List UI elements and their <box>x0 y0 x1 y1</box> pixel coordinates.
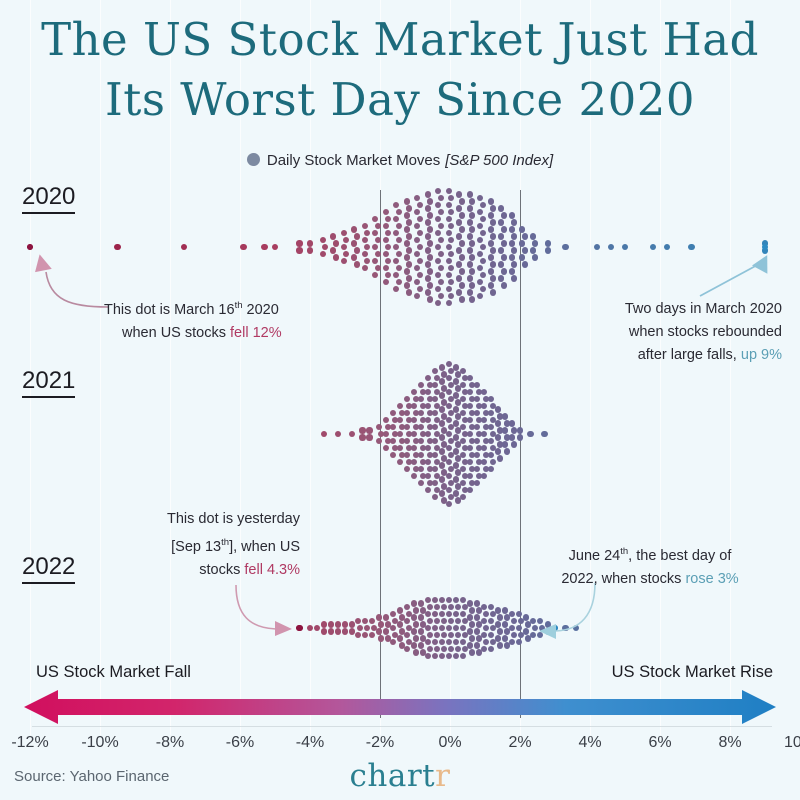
swarm-dot <box>434 487 440 493</box>
swarm-dot <box>537 618 543 624</box>
swarm-dot <box>390 625 396 631</box>
swarm-dot <box>502 427 508 433</box>
swarm-dot <box>439 448 445 454</box>
swarm-dot <box>488 410 494 416</box>
swarm-dot <box>504 448 510 454</box>
swarm-dot <box>467 403 473 409</box>
swarm-dot <box>495 607 501 613</box>
swarm-dot <box>509 420 515 426</box>
swarm-dot <box>362 223 368 229</box>
swarm-dot <box>477 195 483 201</box>
swarm-dot <box>417 202 423 208</box>
swarm-dot <box>441 441 447 447</box>
annotation-sep13-line2-post: ], when US <box>229 539 300 555</box>
swarm-dot <box>420 445 426 451</box>
swarm-dot <box>417 272 423 278</box>
swarm-dot <box>427 254 433 260</box>
swarm-dot <box>425 597 431 603</box>
swarm-dot <box>418 438 424 444</box>
swarm-dot <box>427 618 433 624</box>
swarm-dot <box>459 198 465 204</box>
swarm-dot <box>432 653 438 659</box>
swarm-dot <box>469 466 475 472</box>
swarm-dot <box>417 286 423 292</box>
swarm-dot <box>467 600 473 606</box>
swarm-dot <box>432 466 438 472</box>
swarm-dot <box>532 240 538 246</box>
swarm-dot <box>390 438 396 444</box>
swarm-dot <box>439 653 445 659</box>
swarm-dot <box>343 237 349 243</box>
swarm-dot <box>467 431 473 437</box>
swarm-dot <box>418 642 424 648</box>
swarm-dot <box>383 251 389 257</box>
swarm-dot <box>383 209 389 215</box>
swarm-dot <box>441 497 447 503</box>
swarm-dot <box>441 455 447 461</box>
swarm-dot <box>390 424 396 430</box>
swarm-dot <box>427 438 433 444</box>
swarm-dot <box>349 431 355 437</box>
tick-label-neg2pct: -2% <box>366 734 394 752</box>
annotation-sep13-emphasis: fell 4.3% <box>244 562 300 578</box>
swarm-dot <box>385 424 391 430</box>
swarm-dot <box>490 445 496 451</box>
swarm-dot <box>349 628 355 634</box>
swarm-dot <box>474 480 480 486</box>
swarm-dot <box>462 618 468 624</box>
swarm-dot <box>467 642 473 648</box>
swarm-dot <box>481 417 487 423</box>
swarm-dot <box>320 251 326 257</box>
arrow-head-june24 <box>539 624 556 639</box>
swarm-dot <box>364 230 370 236</box>
axis-fall-label: US Stock Market Fall <box>36 663 191 682</box>
swarm-dot <box>383 614 389 620</box>
logo-text-main: chart <box>350 758 436 794</box>
swarm-dot <box>366 427 372 433</box>
swarm-dot <box>481 459 487 465</box>
swarm-dot <box>504 420 510 426</box>
gradient-direction-arrow <box>24 689 776 725</box>
annotation-twodays-line3: after large falls, up 9% <box>592 344 782 367</box>
swarm-dot <box>397 459 403 465</box>
swarm-dot <box>467 375 473 381</box>
swarm-dot <box>455 483 461 489</box>
swarm-dot <box>650 244 656 250</box>
swarm-dot <box>467 233 473 239</box>
swarm-dot <box>453 625 459 631</box>
swarm-dot <box>481 473 487 479</box>
swarm-dot <box>413 424 419 430</box>
swarm-dot <box>414 265 420 271</box>
swarm-dot <box>420 417 426 423</box>
swarm-dot <box>476 459 482 465</box>
swarm-dot <box>509 611 515 617</box>
tick-label-neg10pct: -10% <box>81 734 118 752</box>
swarm-dot <box>406 261 412 267</box>
swarm-dot <box>488 438 494 444</box>
swarm-dot <box>490 247 496 253</box>
swarm-dot <box>502 635 508 641</box>
swarm-dot <box>455 385 461 391</box>
swarm-dot <box>469 396 475 402</box>
swarm-dot <box>497 413 503 419</box>
swarm-dot <box>441 399 447 405</box>
swarm-dot <box>462 604 468 610</box>
swarm-dot <box>490 611 496 617</box>
swarm-dot <box>530 632 536 638</box>
swarm-dot <box>456 247 462 253</box>
swarm-dot <box>488 618 494 624</box>
swarm-dot <box>427 480 433 486</box>
swarm-dot <box>425 431 431 437</box>
swarm-dot <box>439 420 445 426</box>
swarm-dot <box>467 219 473 225</box>
swarm-dot <box>427 226 433 232</box>
swarm-dot <box>462 431 468 437</box>
swarm-dot <box>432 438 438 444</box>
swarm-dot <box>501 268 507 274</box>
swarm-dot <box>438 237 444 243</box>
swarm-dot <box>425 233 431 239</box>
arrow-head-sep13 <box>275 621 292 636</box>
swarm-dot <box>459 296 465 302</box>
swarm-dot <box>762 247 768 253</box>
swarm-dot <box>504 628 510 634</box>
swarm-dot <box>483 396 489 402</box>
swarm-dot <box>414 251 420 257</box>
swarm-dot <box>351 254 357 260</box>
swarm-dot <box>406 289 412 295</box>
swarm-dot <box>456 289 462 295</box>
annotation-june-24-2022: June 24th, the best day of 2022, when st… <box>540 540 760 591</box>
swarm-dot <box>509 625 515 631</box>
swarm-dot <box>434 445 440 451</box>
swarm-dot <box>501 226 507 232</box>
swarm-dot <box>418 424 424 430</box>
swarm-dot <box>469 480 475 486</box>
swarm-dot <box>460 368 466 374</box>
swarm-dot <box>425 191 431 197</box>
swarm-dot <box>460 597 466 603</box>
swarm-dot <box>511 632 517 638</box>
swarm-dot <box>406 205 412 211</box>
swarm-dot <box>460 653 466 659</box>
swarm-dot <box>406 417 412 423</box>
swarm-dot <box>439 476 445 482</box>
swarm-dot <box>455 497 461 503</box>
swarm-dot <box>420 403 426 409</box>
swarm-dot <box>396 265 402 271</box>
swarm-dot <box>467 261 473 267</box>
swarm-dot <box>411 445 417 451</box>
swarm-dot <box>411 628 417 634</box>
annotation-june24-line2-pre: 2022, when stocks <box>561 571 685 587</box>
swarm-dot <box>435 300 441 306</box>
swarm-dot <box>481 445 487 451</box>
axis-rise-label: US Stock Market Rise <box>612 663 773 682</box>
annotation-sep13-line2: [Sep 13th], when US <box>140 531 300 559</box>
swarm-dot <box>330 233 336 239</box>
swarm-dot <box>364 625 370 631</box>
swarm-dot <box>439 364 445 370</box>
swarm-dot <box>432 480 438 486</box>
swarm-dot <box>460 382 466 388</box>
swarm-dot <box>462 487 468 493</box>
swarm-dot <box>359 434 365 440</box>
swarm-dot <box>397 445 403 451</box>
swarm-dot <box>495 635 501 641</box>
logo-text-accent: r <box>435 758 450 794</box>
swarm-dot <box>456 261 462 267</box>
swarm-dot <box>392 618 398 624</box>
swarm-dot <box>385 258 391 264</box>
arrow-head-twodays <box>751 252 772 274</box>
swarm-dot <box>435 188 441 194</box>
swarm-dot <box>530 618 536 624</box>
swarm-dot <box>469 438 475 444</box>
swarm-dot <box>320 237 326 243</box>
swarm-dot <box>498 205 504 211</box>
swarm-dot <box>427 466 433 472</box>
swarm-dot <box>455 427 461 433</box>
swarm-dot <box>366 434 372 440</box>
swarm-dot <box>490 289 496 295</box>
annotation-sep-13-2022: This dot is yesterday [Sep 13th], when U… <box>140 508 300 582</box>
swarm-dot <box>490 417 496 423</box>
swarm-dot <box>383 417 389 423</box>
swarm-dot <box>413 452 419 458</box>
swarm-dot <box>383 628 389 634</box>
swarm-dot <box>608 244 614 250</box>
swarm-dot <box>474 452 480 458</box>
swarm-dot <box>328 621 334 627</box>
annotation-june24-line1-pre: June 24 <box>569 548 621 564</box>
swarm-dot <box>476 445 482 451</box>
swarm-dot <box>509 226 515 232</box>
swarm-dot <box>488 282 494 288</box>
swarm-dot <box>432 396 438 402</box>
swarm-dot <box>498 247 504 253</box>
tick-label-neg4pct: -4% <box>296 734 324 752</box>
swarm-dot <box>427 632 433 638</box>
swarm-dot <box>522 233 528 239</box>
swarm-dot <box>434 431 440 437</box>
swarm-dot <box>497 628 503 634</box>
swarm-dot <box>459 282 465 288</box>
swarm-dot <box>413 466 419 472</box>
swarm-dot <box>497 427 503 433</box>
swarm-dot <box>392 431 398 437</box>
swarm-dot <box>406 445 412 451</box>
swarm-dot <box>480 202 486 208</box>
annotation-march16-ordinal: th <box>235 300 243 311</box>
swarm-dot <box>432 625 438 631</box>
swarm-dot <box>418 452 424 458</box>
swarm-dot <box>495 420 501 426</box>
swarm-dot <box>404 282 410 288</box>
swarm-dot <box>522 261 528 267</box>
swarm-dot <box>418 410 424 416</box>
swarm-dot <box>427 198 433 204</box>
swarm-dot <box>404 452 410 458</box>
swarm-dot <box>467 191 473 197</box>
chartr-logo: chartr <box>0 758 800 794</box>
swarm-dot <box>460 494 466 500</box>
swarm-dot <box>392 417 398 423</box>
swarm-dot <box>432 452 438 458</box>
annotation-sep13-line3-pre: stocks <box>199 562 244 578</box>
swarm-dot <box>404 424 410 430</box>
swarm-dot <box>411 614 417 620</box>
swarm-dot <box>425 653 431 659</box>
swarm-dot <box>439 462 445 468</box>
swarm-dot <box>469 607 475 613</box>
swarm-dot <box>341 244 347 250</box>
swarm-dot <box>483 424 489 430</box>
swarm-dot <box>432 410 438 416</box>
swarm-dot <box>460 396 466 402</box>
swarm-dot <box>453 364 459 370</box>
swarm-dot <box>477 251 483 257</box>
swarm-dot <box>490 219 496 225</box>
swarm-dot <box>406 233 412 239</box>
swarm-dot <box>404 632 410 638</box>
swarm-dot <box>328 628 334 634</box>
swarm-dot <box>438 223 444 229</box>
swarm-dot <box>488 632 494 638</box>
swarm-dot <box>474 466 480 472</box>
swarm-dot <box>372 258 378 264</box>
annotation-sep13-line2-pre: [Sep 13 <box>171 539 221 555</box>
swarm-dot <box>476 635 482 641</box>
swarm-dot <box>441 618 447 624</box>
swarm-dot <box>390 452 396 458</box>
swarm-dot <box>414 293 420 299</box>
annotation-june24-line2: 2022, when stocks rose 3% <box>540 568 760 591</box>
swarm-dot <box>371 625 377 631</box>
swarm-dot <box>397 431 403 437</box>
legend-label: Daily Stock Market Moves <box>267 152 440 169</box>
swarm-dot <box>351 226 357 232</box>
swarm-dot <box>532 625 538 631</box>
swarm-dot <box>456 191 462 197</box>
swarm-dot <box>425 205 431 211</box>
swarm-dot <box>432 424 438 430</box>
swarm-dot <box>321 431 327 437</box>
swarm-dot <box>397 403 403 409</box>
swarm-dot <box>495 621 501 627</box>
swarm-dot <box>474 424 480 430</box>
swarm-dot <box>532 254 538 260</box>
swarm-dot <box>467 389 473 395</box>
swarm-dot <box>406 219 412 225</box>
swarm-dot <box>573 625 579 631</box>
annotation-june24-emphasis: rose 3% <box>685 571 738 587</box>
annotation-twodays-emphasis: up 9% <box>741 347 782 363</box>
swarm-dot <box>441 413 447 419</box>
swarm-dot <box>488 452 494 458</box>
swarm-dot <box>504 614 510 620</box>
swarm-dot <box>427 410 433 416</box>
swarm-dot <box>467 487 473 493</box>
swarm-dot <box>453 448 459 454</box>
swarm-dot <box>432 368 438 374</box>
swarm-dot <box>453 639 459 645</box>
annotation-march16-line1-post: 2020 <box>243 302 279 318</box>
swarm-dot <box>509 639 515 645</box>
swarm-dot <box>396 279 402 285</box>
swarm-dot <box>417 216 423 222</box>
swarm-dot <box>427 396 433 402</box>
swarm-dot <box>404 438 410 444</box>
swarm-dot <box>420 473 426 479</box>
swarm-dot <box>396 209 402 215</box>
swarm-dot <box>335 621 341 627</box>
swarm-dot <box>393 202 399 208</box>
swarm-dot <box>333 254 339 260</box>
swarm-dot <box>488 268 494 274</box>
swarm-dot <box>480 258 486 264</box>
swarm-dot <box>399 410 405 416</box>
swarm-dot <box>562 625 568 631</box>
swarm-dot <box>469 226 475 232</box>
swarm-dot <box>372 272 378 278</box>
swarm-dot <box>404 226 410 232</box>
swarm-dot <box>498 233 504 239</box>
annotation-june24-line1-post: , the best day of <box>628 548 731 564</box>
swarm-dot <box>354 261 360 267</box>
swarm-dot <box>469 649 475 655</box>
swarm-dot <box>488 226 494 232</box>
swarm-dot <box>462 459 468 465</box>
swarm-dot <box>541 431 547 437</box>
swarm-dot <box>425 375 431 381</box>
swarm-dot <box>511 233 517 239</box>
swarm-dot <box>369 618 375 624</box>
swarm-dot <box>490 261 496 267</box>
swarm-dot <box>404 604 410 610</box>
swarm-dot <box>404 646 410 652</box>
swarm-dot <box>453 597 459 603</box>
swarm-dot <box>441 371 447 377</box>
swarm-dot <box>476 649 482 655</box>
swarm-dot <box>406 431 412 437</box>
swarm-dot <box>396 237 402 243</box>
swarm-dot <box>420 621 426 627</box>
swarm-dot <box>296 625 302 631</box>
swarm-dot <box>393 230 399 236</box>
swarm-dot <box>522 247 528 253</box>
swarm-dot <box>383 279 389 285</box>
swarm-dot <box>488 424 494 430</box>
swarm-dot <box>469 296 475 302</box>
swarm-dot <box>335 431 341 437</box>
tick-label-0pct: 0% <box>438 734 461 752</box>
swarm-dot <box>432 639 438 645</box>
swarm-dot <box>488 212 494 218</box>
swarm-dot <box>425 275 431 281</box>
swarm-dot <box>427 382 433 388</box>
legend-sublabel: [S&P 500 Index] <box>445 152 553 169</box>
swarm-dot <box>460 452 466 458</box>
swarm-dot <box>460 625 466 631</box>
swarm-dot <box>369 632 375 638</box>
swarm-dot <box>501 212 507 218</box>
swarm-dot <box>483 466 489 472</box>
swarm-dot <box>420 635 426 641</box>
